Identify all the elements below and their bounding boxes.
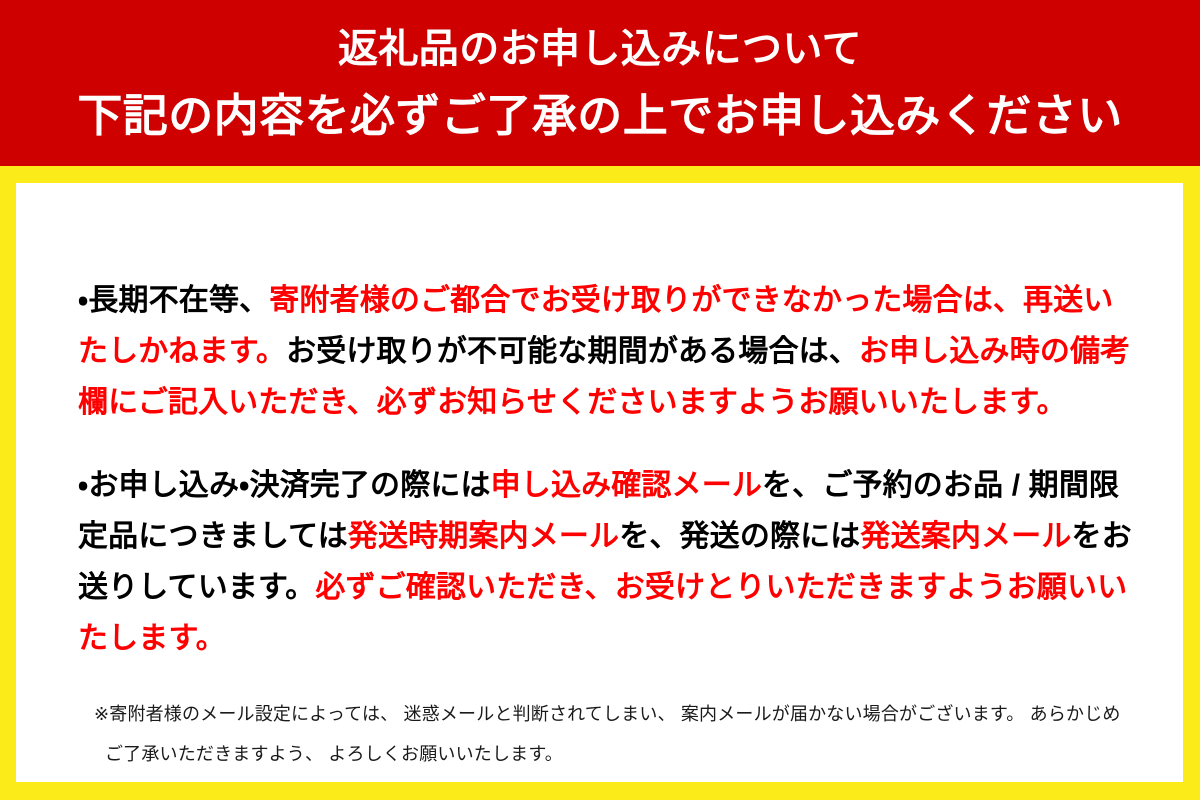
notice-content: ・長期不在等、寄附者様のご都合でお受け取りができなかった場合は、再送いたしかねま… (78, 245, 1133, 774)
footnote-line-2: ご了承いただきますよう、 よろしくお願いいたします。 (94, 734, 1133, 774)
white-content-panel: ・長期不在等、寄附者様のご都合でお受け取りができなかった場合は、再送いたしかねま… (16, 183, 1183, 782)
notice-paragraph-absence-redelivery: ・長期不在等、寄附者様のご都合でお受け取りができなかった場合は、再送いたしかねま… (78, 275, 1133, 428)
plain-text-run: ・お申し込み・決済完了の際には (78, 469, 491, 502)
banner-header: 返礼品のお申し込みについて 下記の内容を必ずご了承の上でお申し込みください (0, 0, 1200, 166)
notice-banner: 返礼品のお申し込みについて 下記の内容を必ずご了承の上でお申し込みください ・長… (0, 0, 1200, 800)
footnote-line-1: ※寄附者様のメール設定によっては、 迷惑メールと判断されてしまい、 案内メールが… (94, 694, 1133, 734)
header-title-line-2: 下記の内容を必ずご了承の上でお申し込みください (77, 93, 1122, 138)
notice-footnote: ※寄附者様のメール設定によっては、 迷惑メールと判断されてしまい、 案内メールが… (78, 694, 1133, 774)
emphasized-text-run: 発送案内メール (860, 520, 1071, 553)
yellow-frame-border: ・長期不在等、寄附者様のご都合でお受け取りができなかった場合は、再送いたしかねま… (0, 166, 1200, 800)
header-title-line-1: 返礼品のお申し込みについて (338, 29, 862, 69)
plain-text-run: ・長期不在等、 (78, 284, 269, 317)
emphasized-text-run: 発送時期案内メール (348, 520, 619, 553)
plain-text-run: お受け取りが不可能な期間がある場合は、 (286, 335, 859, 368)
plain-text-run: を、発送の際には (619, 520, 860, 553)
emphasized-text-run: 申し込み確認メール (491, 469, 762, 502)
notice-paragraph-confirmation-mail: ・お申し込み・決済完了の際には申し込み確認メールを、ご予約のお品 / 期間限定品… (78, 460, 1133, 664)
